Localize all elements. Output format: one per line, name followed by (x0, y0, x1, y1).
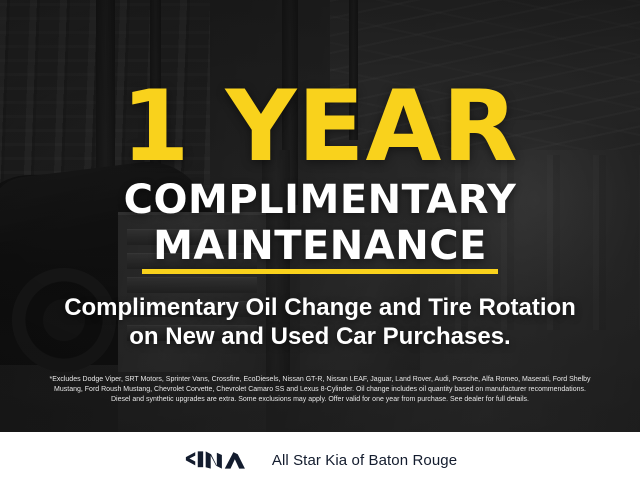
subheadline-line-1: Complimentary Oil Change and Tire Rotati… (0, 293, 640, 322)
headline-primary: 1 YEAR (0, 78, 640, 176)
disclaimer-line-1: *Excludes Dodge Viper, SRT Motors, Sprin… (16, 375, 624, 385)
advertisement-banner: 1 YEAR COMPLIMENTARY MAINTENANCE Complim… (0, 0, 640, 488)
disclaimer-text: *Excludes Dodge Viper, SRT Motors, Sprin… (16, 375, 624, 405)
footer-bar: All Star Kia of Baton Rouge (0, 432, 640, 488)
disclaimer-line-2: Mustang, Ford Roush Mustang, Chevrolet C… (16, 385, 624, 395)
kia-logo-icon (183, 449, 255, 471)
headline-tertiary: MAINTENANCE (0, 226, 640, 266)
dealer-name: All Star Kia of Baton Rouge (272, 452, 457, 469)
headline-secondary: COMPLIMENTARY (0, 180, 640, 220)
hero-section: 1 YEAR COMPLIMENTARY MAINTENANCE Complim… (0, 0, 640, 432)
brand-lockup: All Star Kia of Baton Rouge (183, 449, 457, 471)
subheadline-line-2: on New and Used Car Purchases. (0, 322, 640, 351)
yellow-divider-rule (142, 269, 498, 274)
promo-copy: 1 YEAR COMPLIMENTARY MAINTENANCE Complim… (0, 0, 640, 432)
disclaimer-line-3: Diesel and synthetic upgrades are extra.… (16, 395, 624, 405)
